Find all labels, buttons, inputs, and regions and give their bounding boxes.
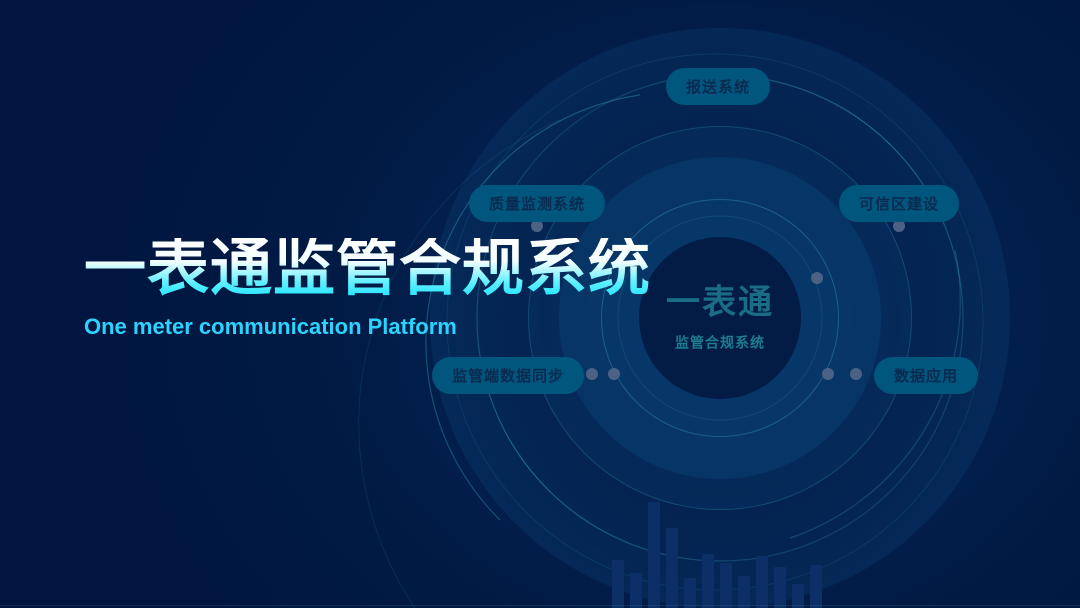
chart-bar [756, 556, 768, 608]
slide-canvas: 一表通 监管合规系统 报送系统质量监测系统可信区建设监管端数据同步数据应用 一表… [0, 0, 1080, 608]
chart-bar [738, 576, 750, 608]
page-subtitle: One meter communication Platform [84, 314, 651, 340]
chart-bar [774, 567, 786, 608]
node-pill-zhiliang[interactable]: 质量监测系统 [469, 185, 605, 222]
chart-bar [666, 528, 678, 608]
chart-bar [720, 563, 732, 608]
connector-dot [822, 368, 834, 380]
chart-bar [612, 560, 624, 608]
decorative-bar-chart [612, 496, 832, 608]
chart-bar [648, 502, 660, 608]
chart-bar [702, 554, 714, 608]
node-pill-baosong[interactable]: 报送系统 [666, 68, 770, 105]
connector-dot [586, 368, 598, 380]
chart-baseline [0, 605, 1080, 606]
connector-dot [608, 368, 620, 380]
chart-bar [684, 578, 696, 608]
connector-dot [811, 272, 823, 284]
headline-block: 一表通监管合规系统 One meter communication Platfo… [84, 238, 651, 340]
node-pill-shuju[interactable]: 数据应用 [874, 357, 978, 394]
page-title: 一表通监管合规系统 [84, 238, 651, 300]
node-pill-kexinqu[interactable]: 可信区建设 [839, 185, 959, 222]
chart-bar [630, 573, 642, 608]
chart-bar [810, 565, 822, 608]
node-pill-tongbu[interactable]: 监管端数据同步 [432, 357, 584, 394]
connector-dot [850, 368, 862, 380]
